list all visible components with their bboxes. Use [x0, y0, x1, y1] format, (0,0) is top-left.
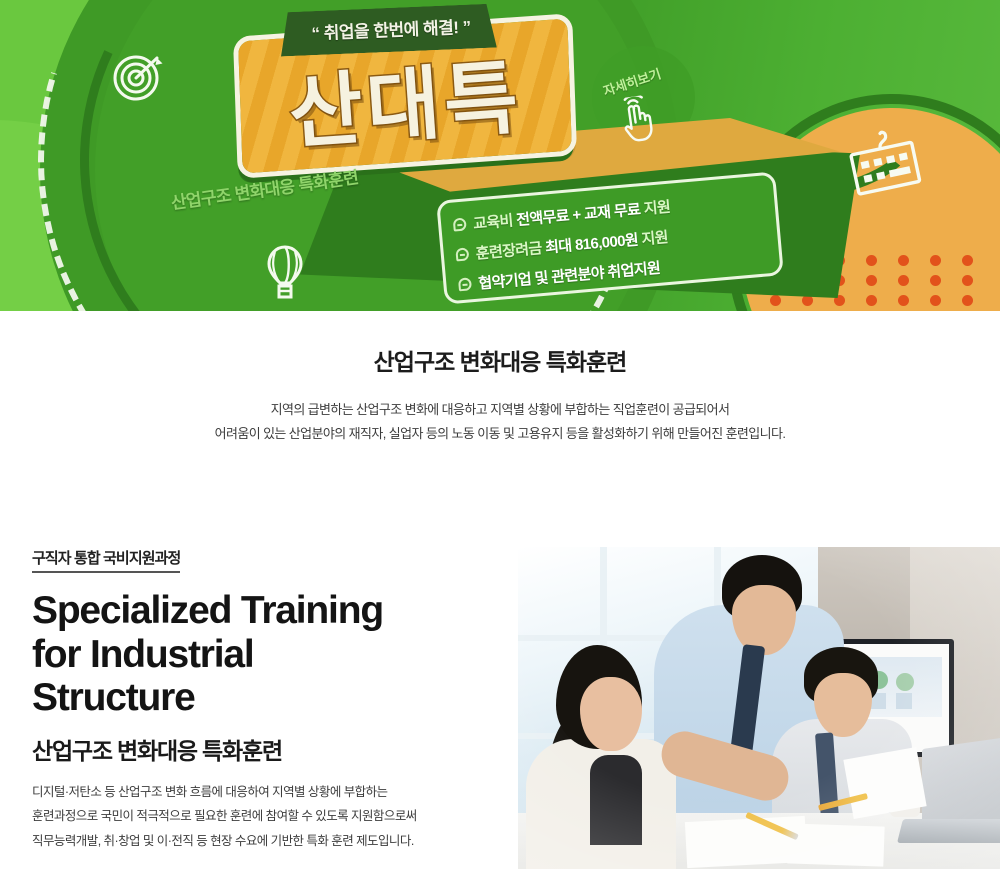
check-bubble-icon — [455, 247, 469, 261]
feature-paragraph: 디지털·저탄소 등 산업구조 변화 흐름에 대응하여 지역별 상황에 부합하는 … — [32, 780, 502, 853]
office-meeting-photo — [518, 547, 1000, 869]
target-icon — [110, 48, 166, 109]
feature-paragraph-line1: 디지털·저탄소 등 산업구조 변화 흐름에 대응하여 지역별 상황에 부합하는 — [32, 785, 388, 799]
hero-banner: “ 취업을 한번에 해결! ” 산대특 산업구조 변화대응 특화훈련 자세히보기… — [0, 0, 1000, 311]
intro-title: 산업구조 변화대응 특화훈련 — [0, 343, 1000, 377]
feature-paragraph-line2: 훈련과정으로 국민이 적극적으로 필요한 훈련에 참여할 수 있도록 지원함으로… — [32, 809, 417, 823]
intro-paragraph-line1: 지역의 급변하는 산업구조 변화에 대응하고 지역별 상황에 부합하는 직업훈련… — [271, 402, 730, 417]
feature-headline-en-line1: Specialized Training — [32, 589, 383, 632]
keyboard-icon — [841, 121, 931, 212]
feature-headline-ko: 산업구조 변화대응 특화훈련 — [32, 732, 502, 766]
intro-paragraph-line2: 어려움이 있는 산업분야의 재직자, 실업자 등의 노동 이동 및 고용유지 등… — [215, 426, 786, 441]
feature-headline-en-line3: Structure — [32, 676, 195, 719]
feature-text-column: 구직자 통합 국비지원과정 Specialized Training for I… — [32, 547, 502, 853]
check-bubble-icon — [458, 277, 472, 291]
feature-eyebrow: 구직자 통합 국비지원과정 — [32, 547, 180, 573]
check-bubble-icon — [453, 217, 467, 231]
feature-headline-en: Specialized Training for Industrial Stru… — [32, 589, 502, 720]
page-root: “ 취업을 한번에 해결! ” 산대특 산업구조 변화대응 특화훈련 자세히보기… — [0, 0, 1000, 869]
feature-headline-en-line2: for Industrial — [32, 633, 254, 676]
pointing-hand-icon[interactable] — [619, 94, 660, 149]
hot-air-balloon-icon — [264, 244, 306, 305]
intro-paragraph: 지역의 급변하는 산업구조 변화에 대응하고 지역별 상황에 부합하는 직업훈련… — [0, 398, 1000, 446]
intro-section: 산업구조 변화대응 특화훈련 지역의 급변하는 산업구조 변화에 대응하고 지역… — [0, 311, 1000, 511]
feature-paragraph-line3: 직무능력개발, 취·창업 및 이·전직 등 현장 수요에 기반한 특화 훈련 제… — [32, 834, 414, 848]
feature-section: 구직자 통합 국비지원과정 Specialized Training for I… — [0, 511, 1000, 869]
